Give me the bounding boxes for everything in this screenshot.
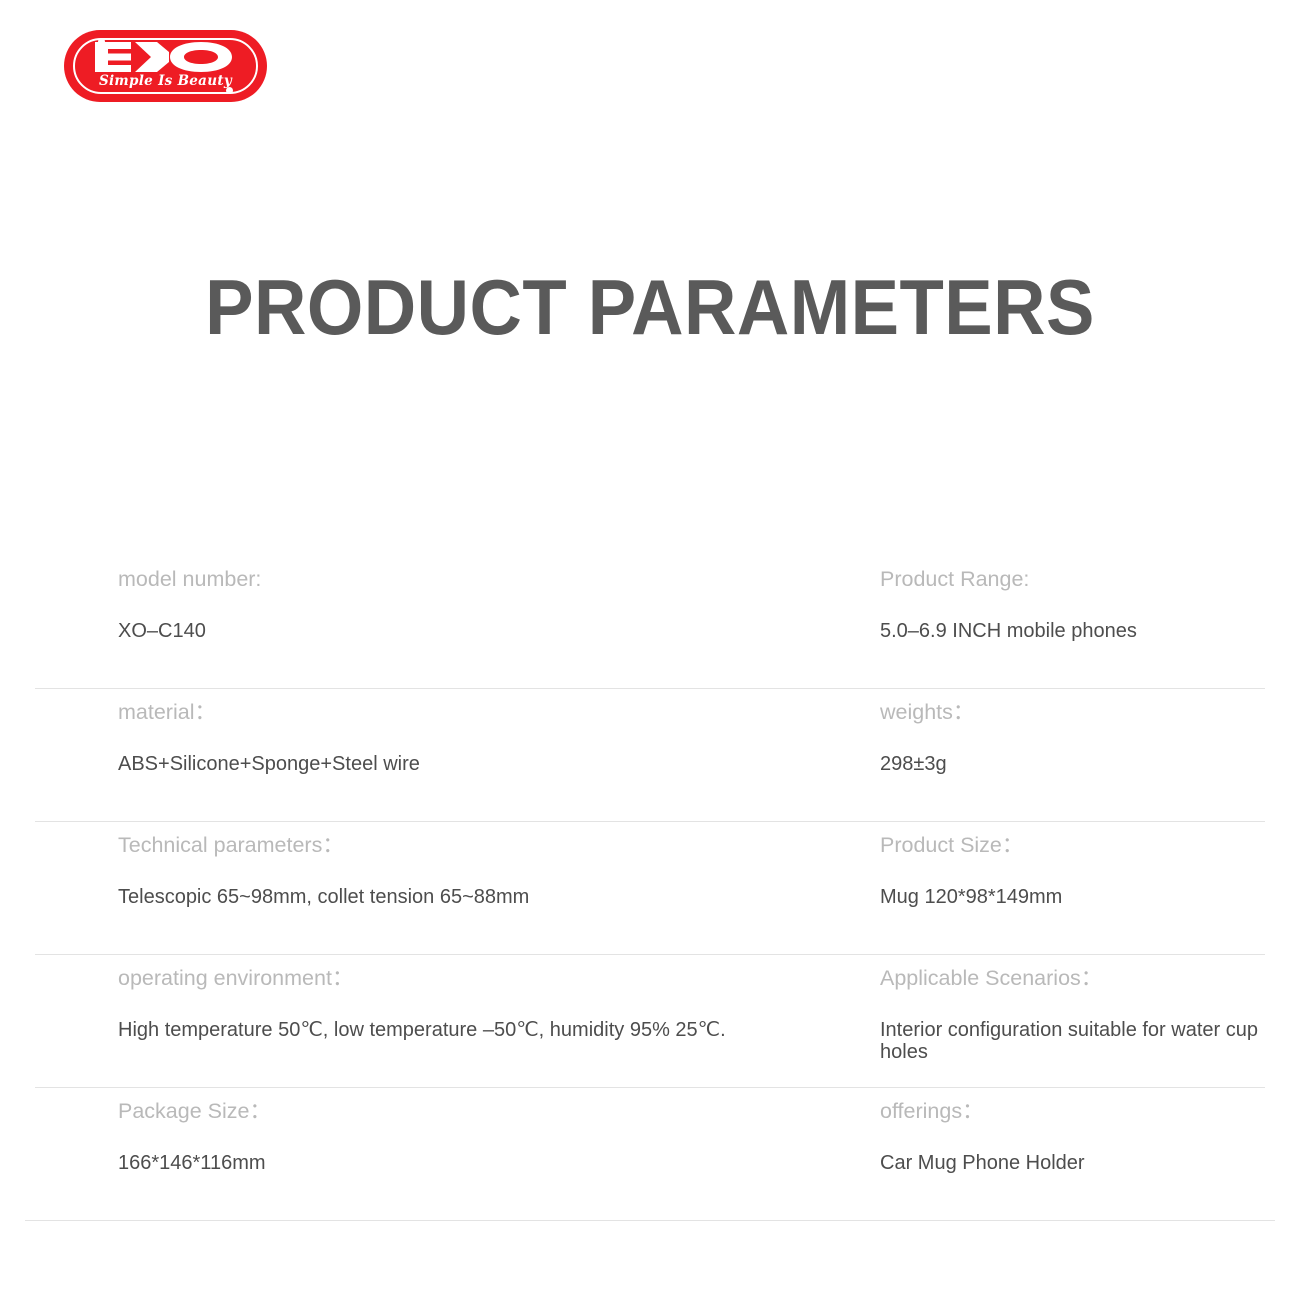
logo-xo-mark-icon — [64, 39, 267, 75]
spec-label: Product Range: — [880, 569, 1272, 591]
table-row: operating environment： High temperature … — [0, 954, 1300, 1087]
spec-label: offerings： — [880, 1101, 1272, 1123]
spec-value: XO–C140 — [118, 620, 858, 644]
spec-table: model number: XO–C140 Product Range: 5.0… — [0, 555, 1300, 1220]
spec-label: weights： — [880, 702, 1272, 724]
spec-value: 166*146*116mm — [118, 1152, 858, 1176]
spec-value: Car Mug Phone Holder — [880, 1152, 1272, 1176]
spec-label: Product Size： — [880, 835, 1272, 857]
spec-cell-applicable-scenarios: Applicable Scenarios： Interior configura… — [880, 954, 1272, 1063]
brand-logo: Simple Is Beauty — [64, 30, 267, 102]
spec-cell-operating-environment: operating environment： High temperature … — [118, 954, 858, 1042]
spec-cell-weights: weights： 298±3g — [880, 688, 1272, 776]
table-bottom-divider — [25, 1220, 1275, 1221]
spec-value: 5.0–6.9 INCH mobile phones — [880, 620, 1272, 644]
spec-value: ABS+Silicone+Sponge+Steel wire — [118, 753, 858, 777]
spec-cell-product-size: Product Size： Mug 120*98*149mm — [880, 821, 1272, 909]
spec-cell-product-range: Product Range: 5.0–6.9 INCH mobile phone… — [880, 555, 1272, 643]
spec-cell-technical-parameters: Technical parameters： Telescopic 65~98mm… — [118, 821, 858, 909]
spec-label: Technical parameters： — [118, 835, 858, 857]
spec-label: model number: — [118, 569, 858, 591]
spec-cell-offerings: offerings： Car Mug Phone Holder — [880, 1087, 1272, 1175]
spec-cell-material: material： ABS+Silicone+Sponge+Steel wire — [118, 688, 858, 776]
spec-label: Package Size： — [118, 1101, 858, 1123]
spec-cell-package-size: Package Size： 166*146*116mm — [118, 1087, 858, 1175]
table-row: Package Size： 166*146*116mm offerings： C… — [0, 1087, 1300, 1220]
spec-label: material： — [118, 702, 858, 724]
logo-tagline: Simple Is Beauty — [64, 73, 267, 89]
spec-value: Mug 120*98*149mm — [880, 886, 1272, 910]
table-row: Technical parameters： Telescopic 65~98mm… — [0, 821, 1300, 954]
page-title: PRODUCT PARAMETERS — [46, 268, 1255, 346]
spec-value: 298±3g — [880, 753, 1272, 777]
spec-value: Interior configuration suitable for wate… — [880, 1019, 1272, 1064]
spec-label: Applicable Scenarios： — [880, 968, 1272, 990]
table-row: model number: XO–C140 Product Range: 5.0… — [0, 555, 1300, 688]
spec-value: Telescopic 65~98mm, collet tension 65~88… — [118, 886, 858, 910]
spec-value: High temperature 50℃, low temperature –5… — [118, 1019, 858, 1043]
spec-cell-model-number: model number: XO–C140 — [118, 555, 858, 643]
spec-label: operating environment： — [118, 968, 858, 990]
table-row: material： ABS+Silicone+Sponge+Steel wire… — [0, 688, 1300, 821]
